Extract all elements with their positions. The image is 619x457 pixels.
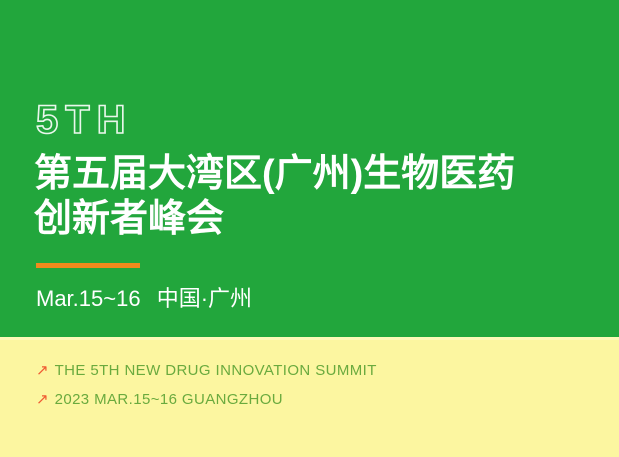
footer-row: ↗ THE 5TH NEW DRUG INNOVATION SUMMIT — [36, 359, 377, 383]
event-poster: 5TH 第五届大湾区(广州)生物医药 创新者峰会 Mar.15~16 中国·广州… — [0, 0, 619, 457]
page-title-line-2: 创新者峰会 — [34, 197, 614, 242]
footer-rows: ↗ THE 5TH NEW DRUG INNOVATION SUMMIT ↗ 2… — [36, 359, 377, 412]
footer-row-label: THE 5TH NEW DRUG INNOVATION SUMMIT — [55, 362, 377, 380]
footer-row-label: 2023 MAR.15~16 GUANGZHOU — [55, 391, 283, 409]
footer-band: ↗ THE 5TH NEW DRUG INNOVATION SUMMIT ↗ 2… — [0, 337, 619, 457]
arrow-up-right-icon: ↗ — [36, 363, 49, 378]
event-date: Mar.15~16 — [36, 286, 141, 311]
event-location: 中国·广州 — [157, 286, 252, 311]
footer-row: ↗ 2023 MAR.15~16 GUANGZHOU — [36, 388, 377, 412]
page-title: 第五届大湾区(广州)生物医药 创新者峰会 — [34, 152, 614, 242]
footer-band-hairline — [0, 337, 619, 340]
date-location-line: Mar.15~16 中国·广州 — [36, 286, 252, 312]
accent-divider — [36, 263, 140, 268]
page-title-line-1: 第五届大湾区(广州)生物医药 — [34, 152, 614, 197]
arrow-up-right-icon: ↗ — [36, 392, 49, 407]
edition-label: 5TH — [36, 100, 133, 140]
green-panel: 5TH 第五届大湾区(广州)生物医药 创新者峰会 Mar.15~16 中国·广州 — [0, 0, 619, 337]
